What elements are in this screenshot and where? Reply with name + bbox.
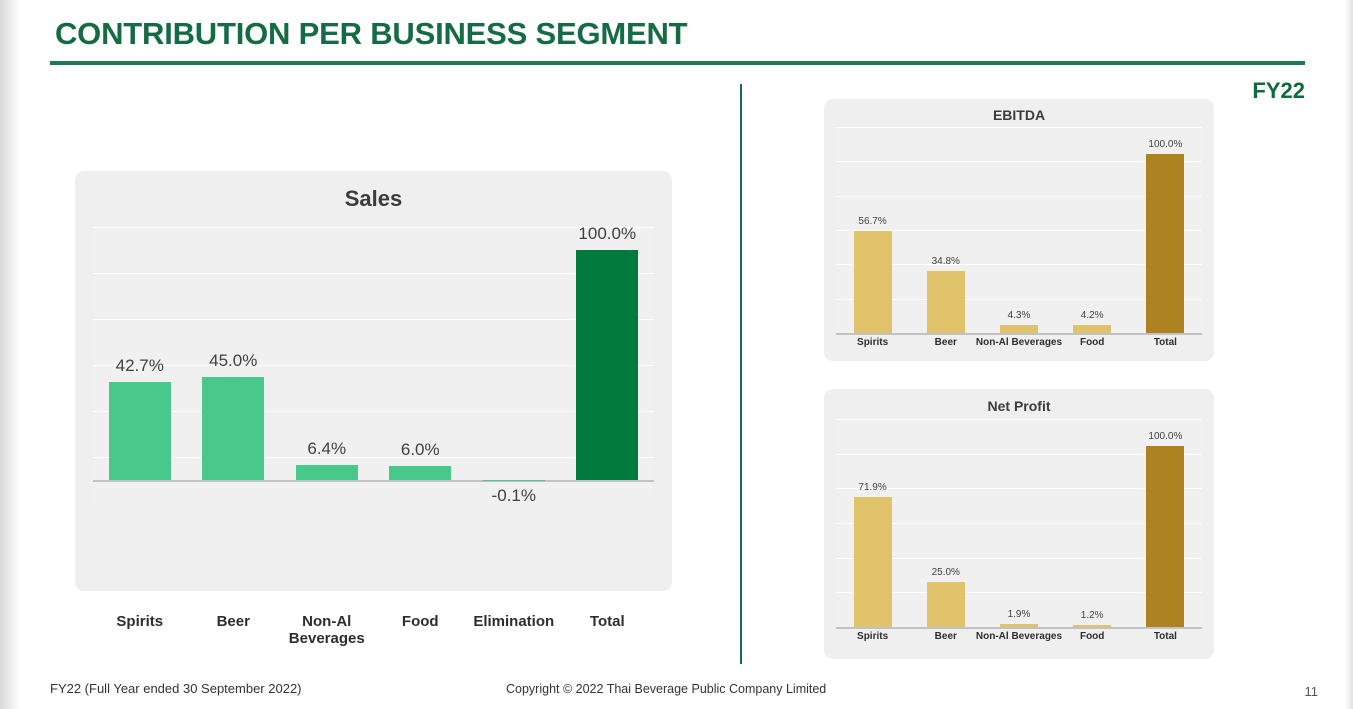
gridline	[836, 419, 1202, 420]
chart-panel-sales: Sales 42.7%45.0%6.4%6.0%-0.1%100.0% Spir…	[75, 171, 672, 591]
bar-spirits[interactable]	[854, 231, 892, 333]
bar-value-label: 34.8%	[894, 256, 997, 267]
gridline	[836, 127, 1202, 128]
page-number: 11	[1305, 684, 1319, 699]
bar-food[interactable]	[1073, 625, 1111, 627]
bar-value-label: 4.2%	[1041, 310, 1144, 321]
bar-spirits[interactable]	[854, 497, 892, 627]
bar-elimination[interactable]	[483, 480, 545, 481]
bar-non-al-beverages[interactable]	[1000, 325, 1038, 333]
gridline	[93, 273, 654, 274]
bar-spirits[interactable]	[109, 382, 171, 480]
bar-value-label: 45.0%	[172, 351, 296, 371]
bar-non-al-beverages[interactable]	[1000, 624, 1038, 627]
category-label: Total	[548, 613, 668, 630]
footer-period-note: FY22 (Full Year ended 30 September 2022)	[50, 681, 302, 696]
gridline	[93, 319, 654, 320]
chart-panel-netprofit: Net Profit 71.9%25.0%1.9%1.2%100.0% Spir…	[824, 389, 1214, 659]
slide-canvas: CONTRIBUTION PER BUSINESS SEGMENT FY22 S…	[0, 0, 1353, 709]
plot-area-netprofit: 71.9%25.0%1.9%1.2%100.0%	[836, 419, 1202, 627]
bar-beer[interactable]	[927, 271, 965, 333]
chart-title-sales: Sales	[75, 186, 672, 212]
category-label: Total	[1116, 337, 1215, 349]
right-edge-shading	[1345, 0, 1353, 709]
left-edge-shading	[0, 0, 20, 709]
bar-value-label: 71.9%	[821, 482, 924, 493]
bar-value-label: 100.0%	[546, 224, 670, 244]
bar-total[interactable]	[576, 250, 638, 480]
plot-area-sales: 42.7%45.0%6.4%6.0%-0.1%100.0%	[93, 227, 654, 503]
chart-title-netprofit: Net Profit	[824, 398, 1214, 414]
chart-panel-ebitda: EBITDA 56.7%34.8%4.3%4.2%100.0% SpiritsB…	[824, 99, 1214, 361]
footer-copyright: Copyright © 2022 Thai Beverage Public Co…	[506, 682, 826, 696]
bar-value-label: -0.1%	[452, 486, 576, 506]
plot-area-ebitda: 56.7%34.8%4.3%4.2%100.0%	[836, 127, 1202, 333]
bar-value-label: 25.0%	[894, 567, 997, 578]
x-axis-line	[836, 333, 1202, 335]
gridline	[93, 411, 654, 412]
bar-beer[interactable]	[202, 377, 264, 481]
bar-value-label: 100.0%	[1114, 431, 1217, 442]
bar-food[interactable]	[389, 466, 451, 480]
chart-title-ebitda: EBITDA	[824, 107, 1214, 123]
bar-non-al-beverages[interactable]	[296, 465, 358, 480]
bar-total[interactable]	[1146, 154, 1184, 333]
bar-total[interactable]	[1146, 446, 1184, 627]
period-label: FY22	[1252, 78, 1305, 104]
bar-value-label: 1.2%	[1041, 610, 1144, 621]
title-divider-rule	[50, 61, 1305, 65]
bar-beer[interactable]	[927, 582, 965, 627]
x-axis-line	[93, 480, 654, 482]
page-title: CONTRIBUTION PER BUSINESS SEGMENT	[55, 16, 687, 52]
x-axis-line	[836, 627, 1202, 629]
bar-food[interactable]	[1073, 325, 1111, 333]
category-label: Total	[1116, 631, 1215, 643]
bar-value-label: 56.7%	[821, 216, 924, 227]
vertical-divider	[740, 84, 742, 664]
bar-value-label: 6.0%	[359, 440, 483, 460]
bar-value-label: 100.0%	[1114, 139, 1217, 150]
